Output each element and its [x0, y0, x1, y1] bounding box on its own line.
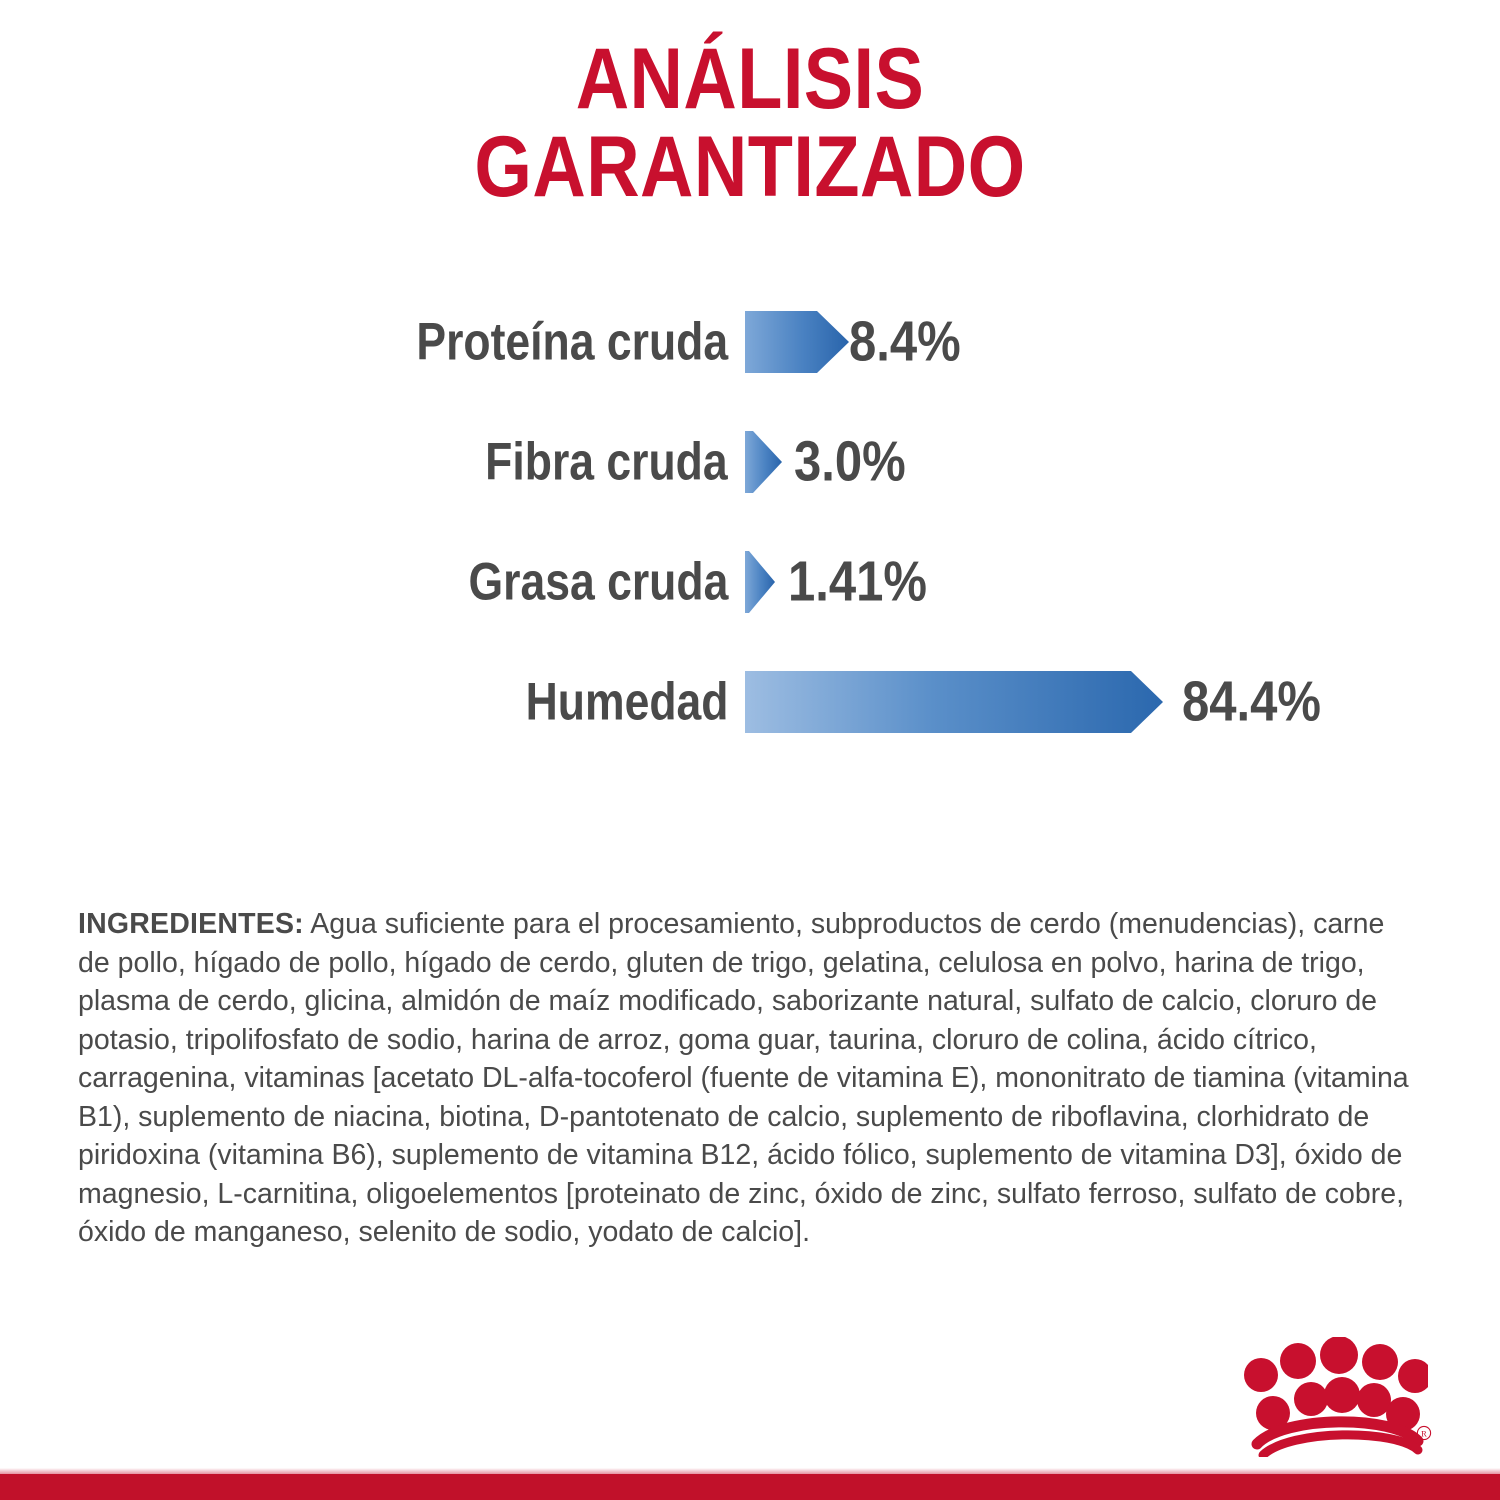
title-line-1: ANÁLISIS [105, 36, 1395, 124]
crown-icon [1243, 1337, 1428, 1457]
product-label-panel: ANÁLISIS GARANTIZADO Proteína cruda [0, 0, 1500, 1500]
analysis-bar-fat-wrap [745, 551, 775, 613]
royal-canin-crown-logo: R [1243, 1337, 1428, 1457]
analysis-value-moisture: 84.4% [1182, 674, 1321, 731]
analysis-label-fiber: Fibra cruda [486, 436, 728, 489]
analysis-value-fat: 1.41% [788, 554, 927, 611]
analysis-label-protein: Proteína cruda [416, 316, 728, 369]
arrow-bar-icon [745, 671, 1163, 733]
page-title: ANÁLISIS GARANTIZADO [0, 36, 1500, 211]
ingredients-text: Agua suficiente para el procesamiento, s… [78, 908, 1409, 1248]
ingredients-block: INGREDIENTES: Agua suficiente para el pr… [78, 905, 1413, 1252]
analysis-row-moisture: Humedad 84.4% [0, 642, 1500, 762]
analysis-value-protein: 8.4% [849, 314, 961, 371]
arrow-bar-icon [745, 551, 775, 613]
footer-red-band [0, 1474, 1500, 1500]
analysis-bar-moisture-wrap [745, 671, 1163, 733]
svg-text:R: R [1421, 1428, 1427, 1438]
arrow-bar-icon [745, 431, 782, 493]
analysis-value-fiber: 3.0% [794, 434, 906, 491]
analysis-bar-protein-wrap [745, 311, 849, 373]
ingredients-heading: INGREDIENTES: [78, 908, 304, 940]
analysis-row-protein: Proteína cruda 8.4% [0, 282, 1500, 402]
guaranteed-analysis-chart: Proteína cruda 8.4% Fibra cruda [0, 282, 1500, 762]
registered-trademark-icon: R [1416, 1425, 1432, 1441]
arrow-bar-icon [745, 311, 849, 373]
analysis-label-moisture: Humedad [525, 676, 728, 729]
analysis-label-fat: Grasa cruda [468, 556, 728, 609]
analysis-row-fat: Grasa cruda 1.41% [0, 522, 1500, 642]
title-line-2: GARANTIZADO [105, 124, 1395, 212]
analysis-row-fiber: Fibra cruda 3.0% [0, 402, 1500, 522]
analysis-bar-fiber-wrap [745, 431, 782, 493]
